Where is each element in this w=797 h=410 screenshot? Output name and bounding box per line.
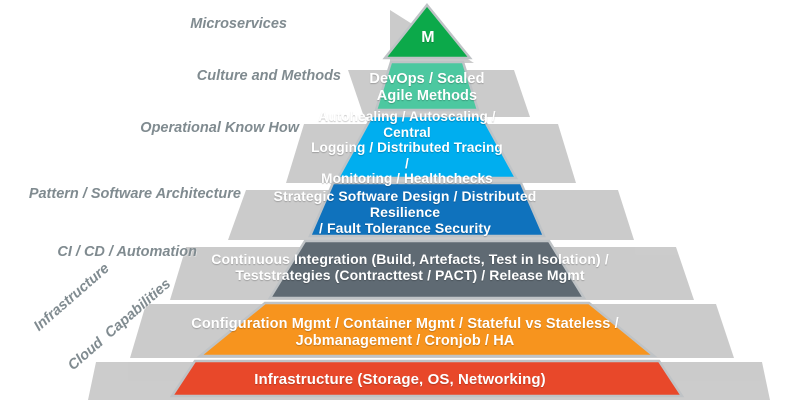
band-shape-level-5	[270, 241, 584, 298]
side-label-operational-know-how: Operational Know How	[140, 120, 299, 137]
band-shape-level-2	[376, 62, 478, 110]
band-shape-level-6	[200, 303, 654, 356]
pyramid-diagram: M DevOps / Scaled Agile Methods Autoheal…	[0, 0, 797, 410]
side-label-culture-and-methods: Culture and Methods	[197, 68, 341, 85]
side-label-microservices: Microservices	[190, 16, 287, 33]
side-label-pattern-software-architecture: Pattern / Software Architecture	[29, 186, 241, 203]
band-shape-level-7	[172, 361, 682, 396]
band-shape-level-4	[310, 183, 544, 236]
